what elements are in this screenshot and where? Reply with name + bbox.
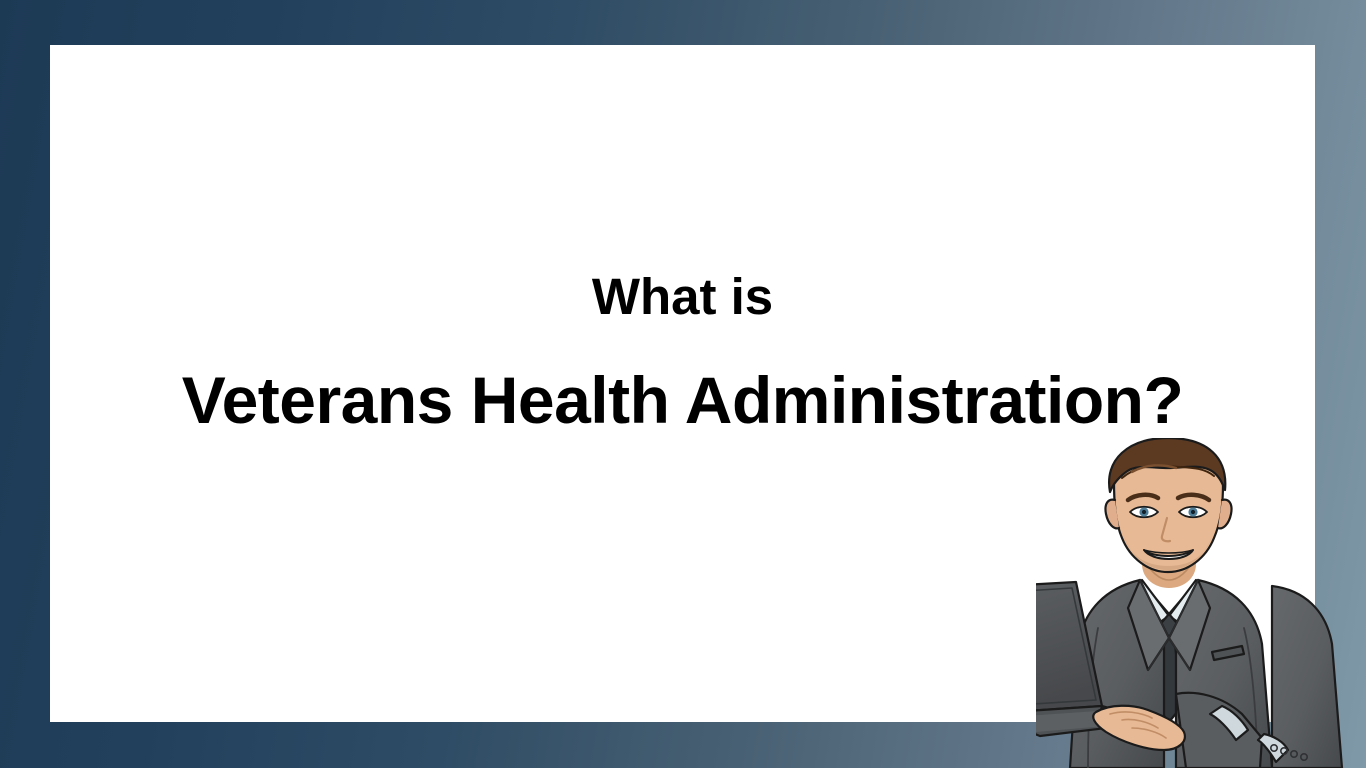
title-line-two: Veterans Health Administration? [50, 366, 1315, 436]
slide-title: What is Veterans Health Administration? [50, 270, 1315, 436]
title-line-one: What is [50, 270, 1315, 324]
presentation-slide: What is Veterans Health Administration? [0, 0, 1366, 768]
